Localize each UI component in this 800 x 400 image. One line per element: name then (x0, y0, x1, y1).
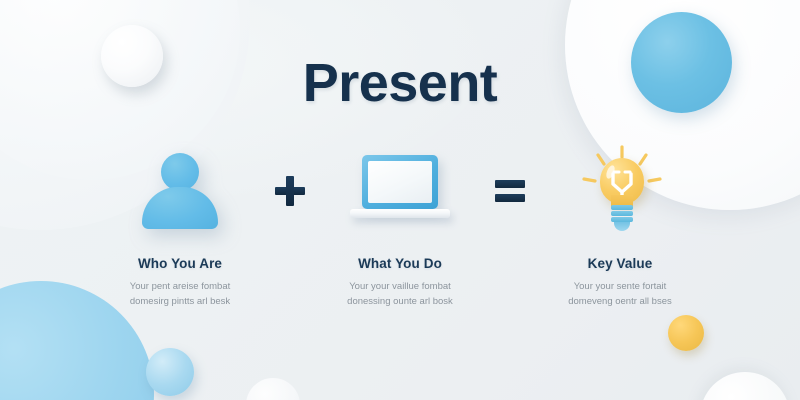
person-icon (135, 151, 225, 231)
decorative-sphere-blue-bottom (146, 348, 194, 396)
caption-body-line1: Your your sente fortait (568, 280, 672, 295)
equals-icon-top-bar (495, 180, 525, 188)
equation-column-what-you-do: What You Do Your your vaillue fombat don… (314, 145, 486, 309)
plus-icon (275, 176, 305, 206)
laptop-icon-container (348, 145, 452, 237)
laptop-icon-screen (368, 161, 432, 203)
decorative-circle-bottom-right-white (700, 372, 790, 400)
lightbulb-icon-base-band-1 (611, 205, 633, 210)
caption-heading-who-you-are: Who You Are (138, 256, 222, 271)
caption-heading-what-you-do: What You Do (358, 256, 442, 271)
plus-operator (266, 145, 314, 237)
presentation-slide: Present Who You Are Your pent areise fom… (0, 0, 800, 400)
caption-body-what-you-do: Your your vaillue fombat donessing ounte… (347, 280, 453, 309)
equation-column-key-value: Key Value Your your sente fortait domeve… (534, 145, 706, 309)
caption-body-line1: Your your vaillue fombat (347, 280, 453, 295)
laptop-icon-base (350, 209, 450, 218)
caption-body-who-you-are: Your pent areise fombat domesirg pintts … (130, 280, 231, 309)
lightbulb-icon-base-band-2 (611, 211, 633, 216)
caption-body-line1: Your pent areise fombat (130, 280, 231, 295)
caption-body-line2: domesirg pintts arl besk (130, 295, 231, 310)
lightbulb-icon-container (568, 145, 672, 237)
slide-title: Present (0, 52, 800, 114)
equals-operator (486, 145, 534, 237)
lightbulb-icon (568, 145, 672, 237)
caption-body-line2: domeveng oentr all bses (568, 295, 672, 310)
laptop-icon (348, 151, 452, 231)
plus-icon-vertical-bar (286, 176, 294, 206)
caption-heading-key-value: Key Value (588, 256, 653, 271)
decorative-sphere-white-bottom (246, 378, 300, 400)
person-icon-body (142, 187, 218, 229)
decorative-sphere-yellow-bottom (668, 315, 704, 351)
person-icon-container (135, 145, 225, 237)
caption-body-line2: donessing ounte arl bosk (347, 295, 453, 310)
caption-body-key-value: Your your sente fortait domeveng oentr a… (568, 280, 672, 309)
person-icon-head (161, 153, 199, 191)
value-equation-row: Who You Are Your pent areise fombat dome… (0, 145, 800, 315)
equals-icon (495, 180, 525, 202)
equation-column-who-you-are: Who You Are Your pent areise fombat dome… (94, 145, 266, 309)
equals-icon-bottom-bar (495, 194, 525, 202)
